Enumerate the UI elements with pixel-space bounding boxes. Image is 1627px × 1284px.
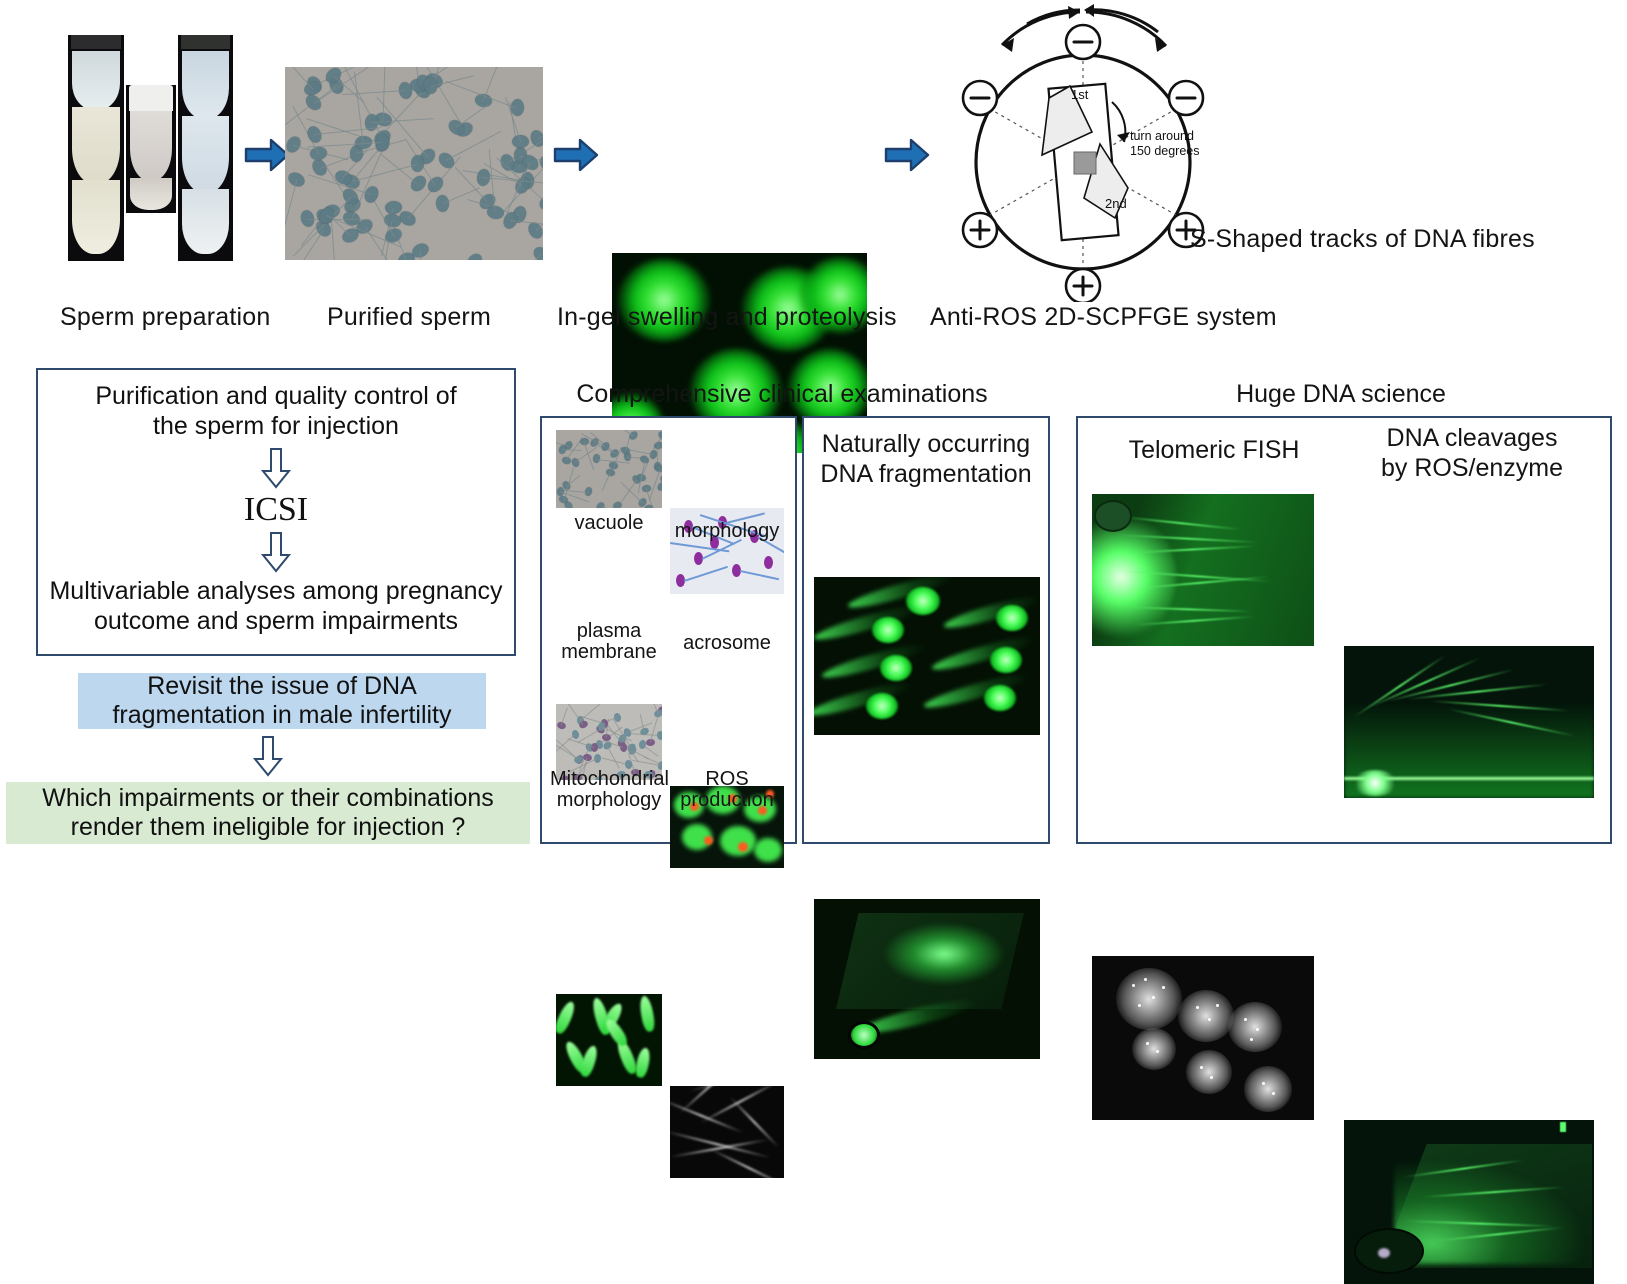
clinical-panel-title: Comprehensive clinical examinations xyxy=(566,380,998,410)
scpfge-label-1st: 1st xyxy=(1071,87,1089,102)
workflow-arrow-2 xyxy=(553,137,599,173)
clinical-label-mito-line1: Mitochondrial xyxy=(550,768,668,790)
clinical-label-ros-line1: ROS xyxy=(670,768,784,790)
comet-tail-spread-fluorescence xyxy=(814,899,1040,1059)
clinical-label-plasma-line1: plasma xyxy=(556,620,662,642)
workflow-caption-4: Anti-ROS 2D-SCPFGE system xyxy=(930,303,1277,332)
dna-science-col1-label: Telomeric FISH xyxy=(1092,436,1336,466)
clinical-label-vacuole: vacuole xyxy=(556,512,662,534)
comet-heads-fluorescence xyxy=(814,577,1040,735)
flowchart-blue-box: Revisit the issue of DNA fragmentation i… xyxy=(78,673,486,729)
workflow-arrow-3 xyxy=(884,137,930,173)
electrophoresis-schematic: 1st 2nd turn around 150 degrees xyxy=(952,2,1214,302)
green-box-line-2: render them ineligible for injection ? xyxy=(71,813,466,843)
ros-production-micrograph xyxy=(670,1086,784,1178)
flowchart-green-box: Which impairments or their combinations … xyxy=(6,782,530,844)
fragmentation-panel: Naturally occurring DNA fragmentation xyxy=(802,416,1050,844)
brightfield-sperm-micrograph: /*decorative*/ xyxy=(285,67,543,260)
scpfge-label-2nd: 2nd xyxy=(1105,196,1127,211)
mitochondrial-morphology-micrograph xyxy=(556,994,662,1086)
telomere-dots-grayscale xyxy=(1092,956,1314,1120)
blue-box-line-1: Revisit the issue of DNA xyxy=(147,672,417,702)
flowchart-icsi-label: ICSI xyxy=(38,491,514,529)
clinical-label-acrosome: acrosome xyxy=(670,632,784,654)
flowchart-main-box: Purification and quality control of the … xyxy=(36,368,516,656)
dna-science-col2-label-line2: by ROS/enzyme xyxy=(1344,454,1600,484)
workflow-caption-1: Sperm preparation xyxy=(60,303,270,332)
workflow-arrow-1 xyxy=(244,137,290,173)
dna-science-title: Huge DNA science xyxy=(1076,380,1606,410)
green-box-line-1: Which impairments or their combinations xyxy=(42,784,494,814)
flowchart-line-1: Purification and quality control of xyxy=(38,382,514,412)
clinical-label-ros-line2: production xyxy=(670,789,784,811)
vacuole-micrograph xyxy=(556,430,662,508)
dna-tracks-caption: S-Shaped tracks of DNA fibres xyxy=(1190,225,1535,254)
scpfge-turn-note-line2: 150 degrees xyxy=(1130,144,1200,158)
down-arrow-icon-1 xyxy=(261,447,291,489)
clinical-label-morphology: morphology xyxy=(670,520,784,542)
down-arrow-icon-2 xyxy=(261,531,291,573)
fragmentation-title-line2: DNA fragmentation xyxy=(804,460,1048,490)
flowchart-line-2: the sperm for injection xyxy=(38,412,514,442)
scpfge-turn-note-line1: turn around xyxy=(1130,129,1194,143)
workflow-caption-2: Purified sperm xyxy=(327,303,491,332)
flowchart-line-3: Multivariable analyses among pregnancy xyxy=(38,577,514,607)
blue-box-line-2: fragmentation in male infertility xyxy=(112,701,451,731)
clinical-panel: vacuole morphology plasma membrane acros… xyxy=(540,416,797,844)
centrifuge-tubes-photo xyxy=(68,35,233,261)
dna-cleavage-spread-green xyxy=(1344,1120,1594,1284)
down-arrow-icon-3 xyxy=(253,735,283,777)
telomeric-fish-green xyxy=(1092,494,1314,646)
flowchart-line-4: outcome and sperm impairments xyxy=(38,607,514,637)
clinical-label-plasma-line2: membrane xyxy=(556,641,662,663)
dna-science-panel: Telomeric FISH DNA cleavages by ROS/enzy… xyxy=(1076,416,1612,844)
dna-cleavage-fan-green xyxy=(1344,646,1594,798)
clinical-label-mito-line2: morphology xyxy=(550,789,668,811)
fragmentation-title-line1: Naturally occurring xyxy=(804,430,1048,460)
dna-science-col2-label-line1: DNA cleavages xyxy=(1344,424,1600,454)
workflow-caption-3: In-gel swelling and proteolysis xyxy=(557,303,897,332)
